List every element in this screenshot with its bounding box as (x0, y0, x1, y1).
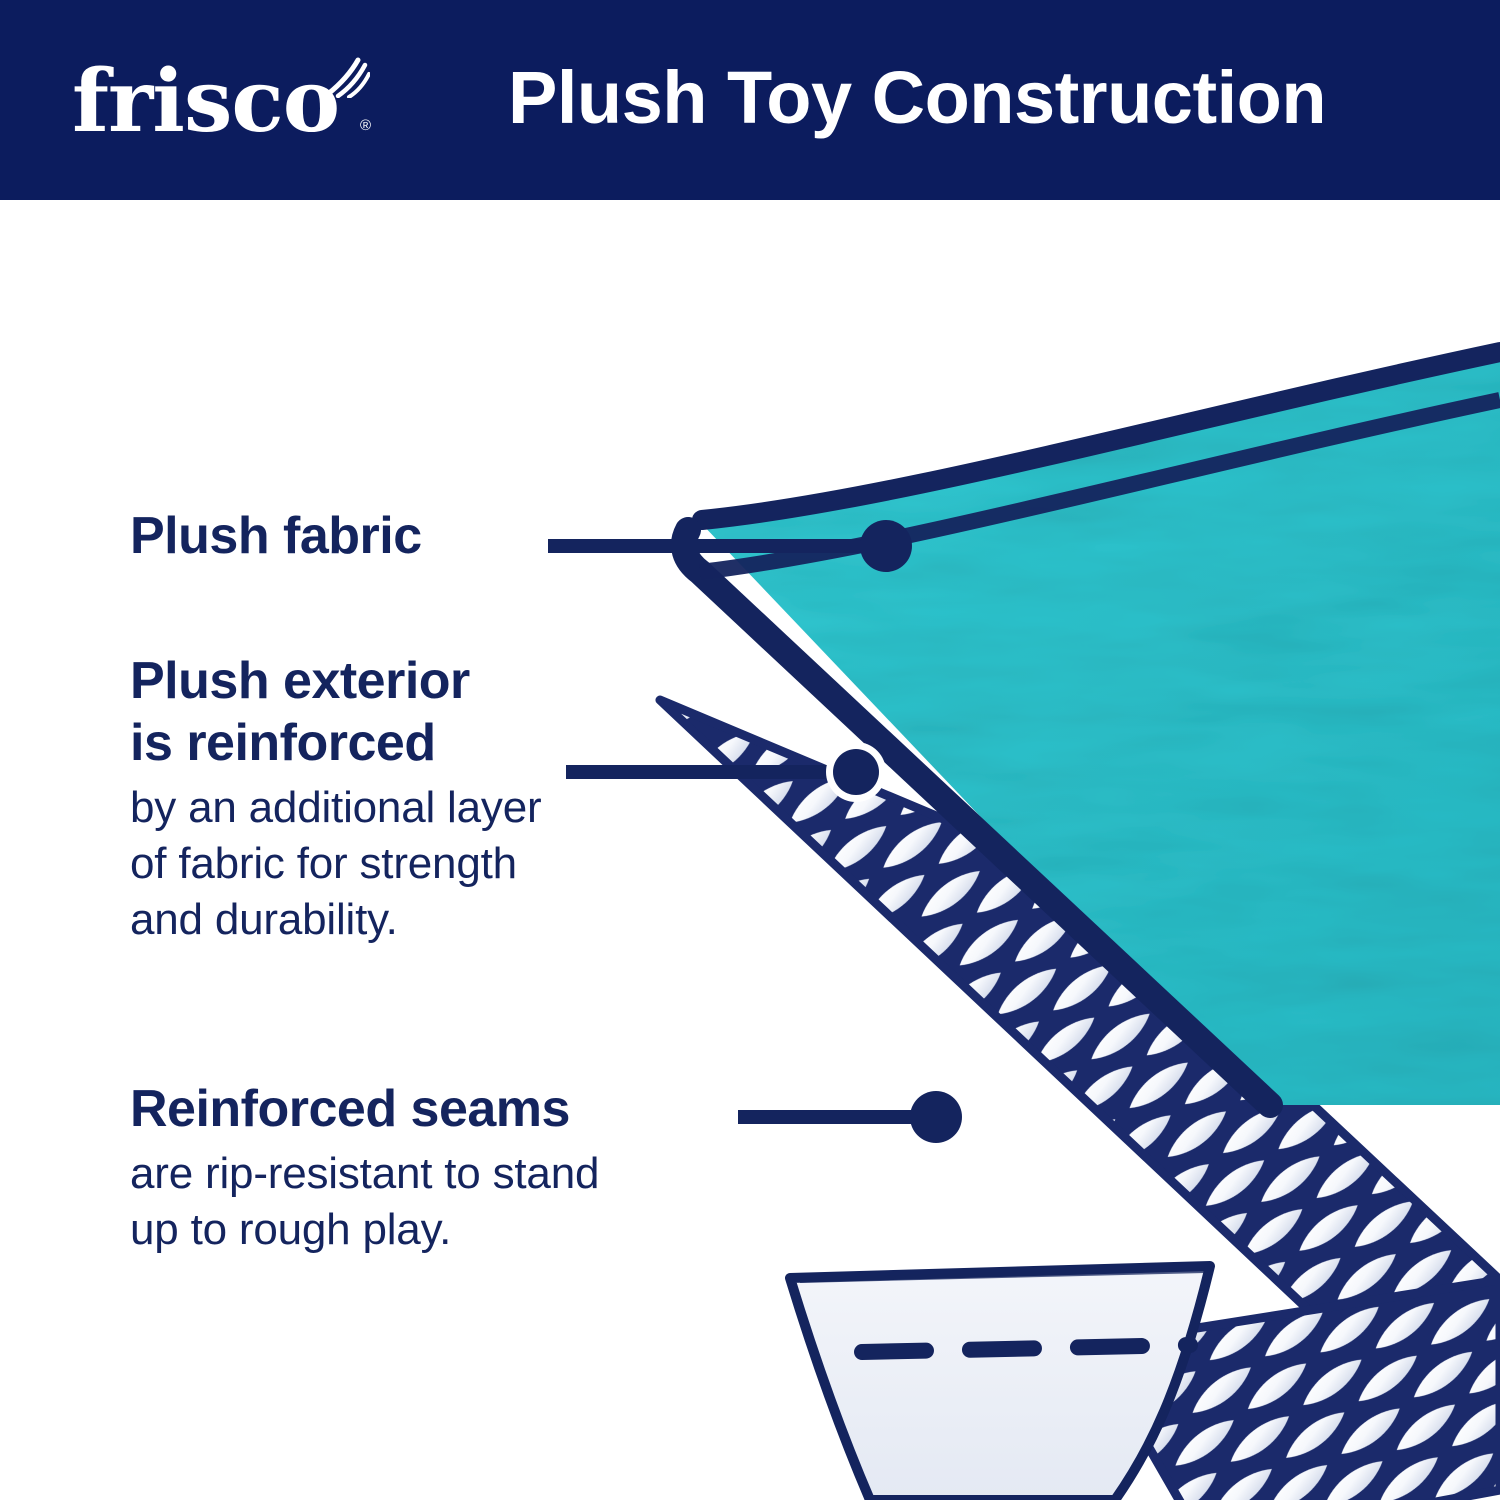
infographic-page: frisco ® Plush Toy Construction (0, 0, 1500, 1500)
callout-plush-fabric: Plush fabric (130, 505, 560, 567)
callout-plush-exterior-body: by an additional layer of fabric for str… (130, 780, 730, 948)
page-title: Plush Toy Construction (508, 46, 1408, 150)
callout-plush-exterior: Plush exterior is reinforced by an addit… (130, 650, 730, 948)
frisco-logo: frisco ® (72, 50, 382, 154)
frisco-wordmark: frisco (72, 50, 382, 154)
callout-plush-fabric-heading: Plush fabric (130, 505, 560, 567)
header-bar: frisco ® Plush Toy Construction (0, 0, 1500, 200)
callout-plush-exterior-heading: Plush exterior is reinforced (130, 650, 730, 774)
leader-dot-plush-fabric (860, 520, 912, 572)
leader-dot-reinforced-seams (910, 1091, 962, 1143)
callout-reinforced-seams-heading: Reinforced seams (130, 1078, 810, 1140)
seam-flap-with-stitching (790, 1266, 1210, 1500)
callout-reinforced-seams-body: are rip-resistant to stand up to rough p… (130, 1146, 810, 1258)
leader-dot-plush-exterior (833, 749, 879, 795)
callout-reinforced-seams: Reinforced seams are rip-resistant to st… (130, 1078, 810, 1258)
registered-trademark-icon: ® (360, 118, 371, 133)
dashed-stitch-line (862, 1345, 1190, 1352)
